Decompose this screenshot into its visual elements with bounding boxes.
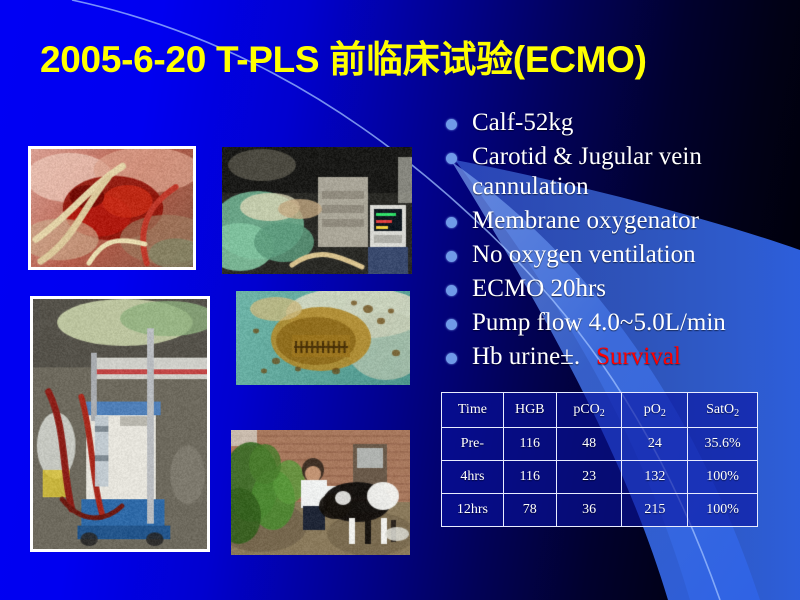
cell-sato2: 100% — [688, 494, 758, 527]
cell-po2: 132 — [622, 461, 688, 494]
table-row: Pre- 116 48 24 35.6% — [442, 428, 758, 461]
slide-title: 2005-6-20 T-PLS 前临床试验(ECMO) — [40, 38, 760, 82]
photo-ecmo-pump-console — [30, 296, 210, 552]
photo-surgical-incision-drape — [236, 291, 410, 385]
bullet-text: Calf-52kg — [472, 109, 573, 136]
results-table: Time HGB pCO2 pO2 SatO2 Pre- 116 48 24 3… — [441, 392, 758, 527]
cell-time: Pre- — [442, 428, 504, 461]
cell-pco2: 36 — [556, 494, 622, 527]
cell-pco2: 48 — [556, 428, 622, 461]
bullet-item: ECMO 20hrs — [438, 274, 790, 304]
title-chinese: 前临床试验 — [329, 38, 513, 81]
bullet-text: Membrane oxygenator — [472, 207, 699, 234]
presentation-slide: 2005-6-20 T-PLS 前临床试验(ECMO) Calf-52kg Ca… — [0, 0, 800, 600]
bullet-dot-icon — [446, 251, 457, 262]
table-header-po2: pO2 — [622, 393, 688, 428]
cell-time: 12hrs — [442, 494, 504, 527]
bullet-item: Carotid & Jugular vein cannulation — [438, 142, 790, 202]
table-header-hgb: HGB — [503, 393, 556, 428]
cell-po2: 215 — [622, 494, 688, 527]
bullet-dot-icon — [446, 285, 457, 296]
table-row: 4hrs 116 23 132 100% — [442, 461, 758, 494]
photo-calf-with-handler — [231, 430, 410, 555]
bullet-highlight-text: Survival — [596, 343, 681, 370]
bullet-item: Membrane oxygenator — [438, 206, 790, 236]
bullet-item: Hb urine±.Survival — [438, 342, 790, 372]
bullet-dot-icon — [446, 119, 457, 130]
bullet-dot-icon — [446, 319, 457, 330]
photo-operating-room-monitor — [222, 147, 412, 274]
cell-time: 4hrs — [442, 461, 504, 494]
table-header-row: Time HGB pCO2 pO2 SatO2 — [442, 393, 758, 428]
table-header-time: Time — [442, 393, 504, 428]
table-header-pco2: pCO2 — [556, 393, 622, 428]
photo-surgical-field-cannulation — [28, 146, 196, 270]
cell-sato2: 35.6% — [688, 428, 758, 461]
bullet-dot-icon — [446, 217, 457, 228]
cell-hgb: 116 — [503, 461, 556, 494]
cell-po2: 24 — [622, 428, 688, 461]
table-header-sato2: SatO2 — [688, 393, 758, 428]
cell-sato2: 100% — [688, 461, 758, 494]
cell-hgb: 78 — [503, 494, 556, 527]
bullet-text: ECMO 20hrs — [472, 275, 606, 302]
bullet-list: Calf-52kg Carotid & Jugular vein cannula… — [438, 108, 790, 376]
bullet-dot-icon — [446, 153, 457, 164]
bullet-dot-icon — [446, 353, 457, 364]
bullet-text: Hb urine±. — [472, 343, 580, 370]
bullet-item: Pump flow 4.0~5.0L/min — [438, 308, 790, 338]
bullet-item: No oxygen ventilation — [438, 240, 790, 270]
table-row: 12hrs 78 36 215 100% — [442, 494, 758, 527]
title-prefix: 2005-6-20 T-PLS — [40, 39, 329, 80]
title-suffix: (ECMO) — [513, 39, 647, 80]
cell-hgb: 116 — [503, 428, 556, 461]
cell-pco2: 23 — [556, 461, 622, 494]
bullet-text: Pump flow 4.0~5.0L/min — [472, 309, 726, 336]
bullet-text: No oxygen ventilation — [472, 241, 696, 268]
bullet-item: Calf-52kg — [438, 108, 790, 138]
bullet-text: Carotid & Jugular vein cannulation — [472, 143, 702, 200]
